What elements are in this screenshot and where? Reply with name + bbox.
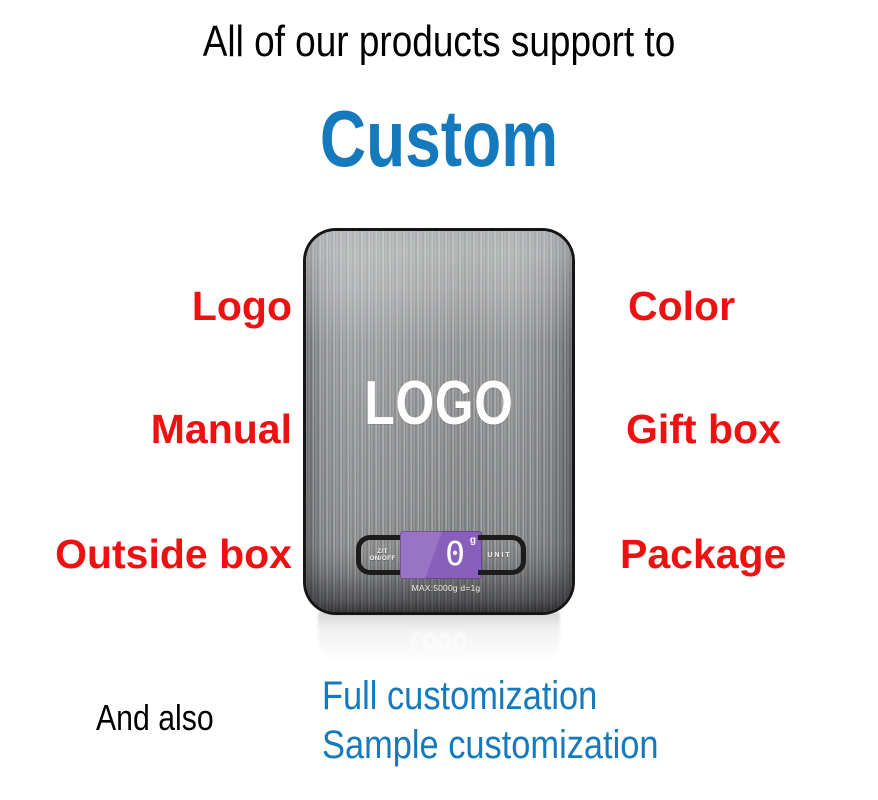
unit-button-label: UNIT — [487, 552, 511, 559]
footer-full-customization: Full customization — [322, 672, 659, 721]
footer-customization-list: Full customization Sample customization — [322, 672, 659, 770]
lcd-display: 0 g — [400, 531, 482, 579]
kitchen-scale-product: LOGO Z/T ON/OFF 0 g UNIT MAX:5000g d=1g — [306, 231, 572, 612]
feature-label-color: Color — [628, 283, 878, 329]
lcd-unit-label: g — [470, 536, 476, 546]
feature-label-outside-box: Outside box — [10, 531, 292, 577]
scale-brand-logo: LOGO — [333, 373, 546, 435]
page-title: All of our products support to — [70, 16, 808, 68]
zero-tare-button-label: Z/T ON/OFF — [369, 548, 395, 563]
scale-reflection: LOGO — [318, 612, 560, 664]
feature-label-manual: Manual — [30, 406, 292, 452]
unit-button[interactable]: UNIT — [478, 535, 526, 575]
zero-tare-line1: Z/T — [369, 548, 395, 556]
feature-label-package: Package — [620, 531, 878, 577]
scale-control-panel: Z/T ON/OFF 0 g UNIT MAX:5000g d=1g — [356, 531, 526, 579]
custom-heading: Custom — [88, 95, 790, 183]
feature-label-gift-box: Gift box — [626, 406, 878, 452]
scale-reflection-logo: LOGO — [342, 626, 536, 654]
scale-capacity-spec: MAX:5000g d=1g — [400, 583, 492, 593]
footer-and-also: And also — [96, 697, 214, 739]
poster-canvas: All of our products support to Custom Lo… — [0, 0, 878, 800]
feature-label-logo: Logo — [30, 283, 292, 329]
zero-tare-line2: ON/OFF — [369, 555, 395, 563]
zero-tare-on-off-button[interactable]: Z/T ON/OFF — [356, 535, 404, 575]
scale-platform: LOGO Z/T ON/OFF 0 g UNIT MAX:5000g d=1g — [306, 231, 572, 612]
lcd-weight-value: 0 — [445, 537, 464, 570]
footer-sample-customization: Sample customization — [322, 721, 659, 770]
